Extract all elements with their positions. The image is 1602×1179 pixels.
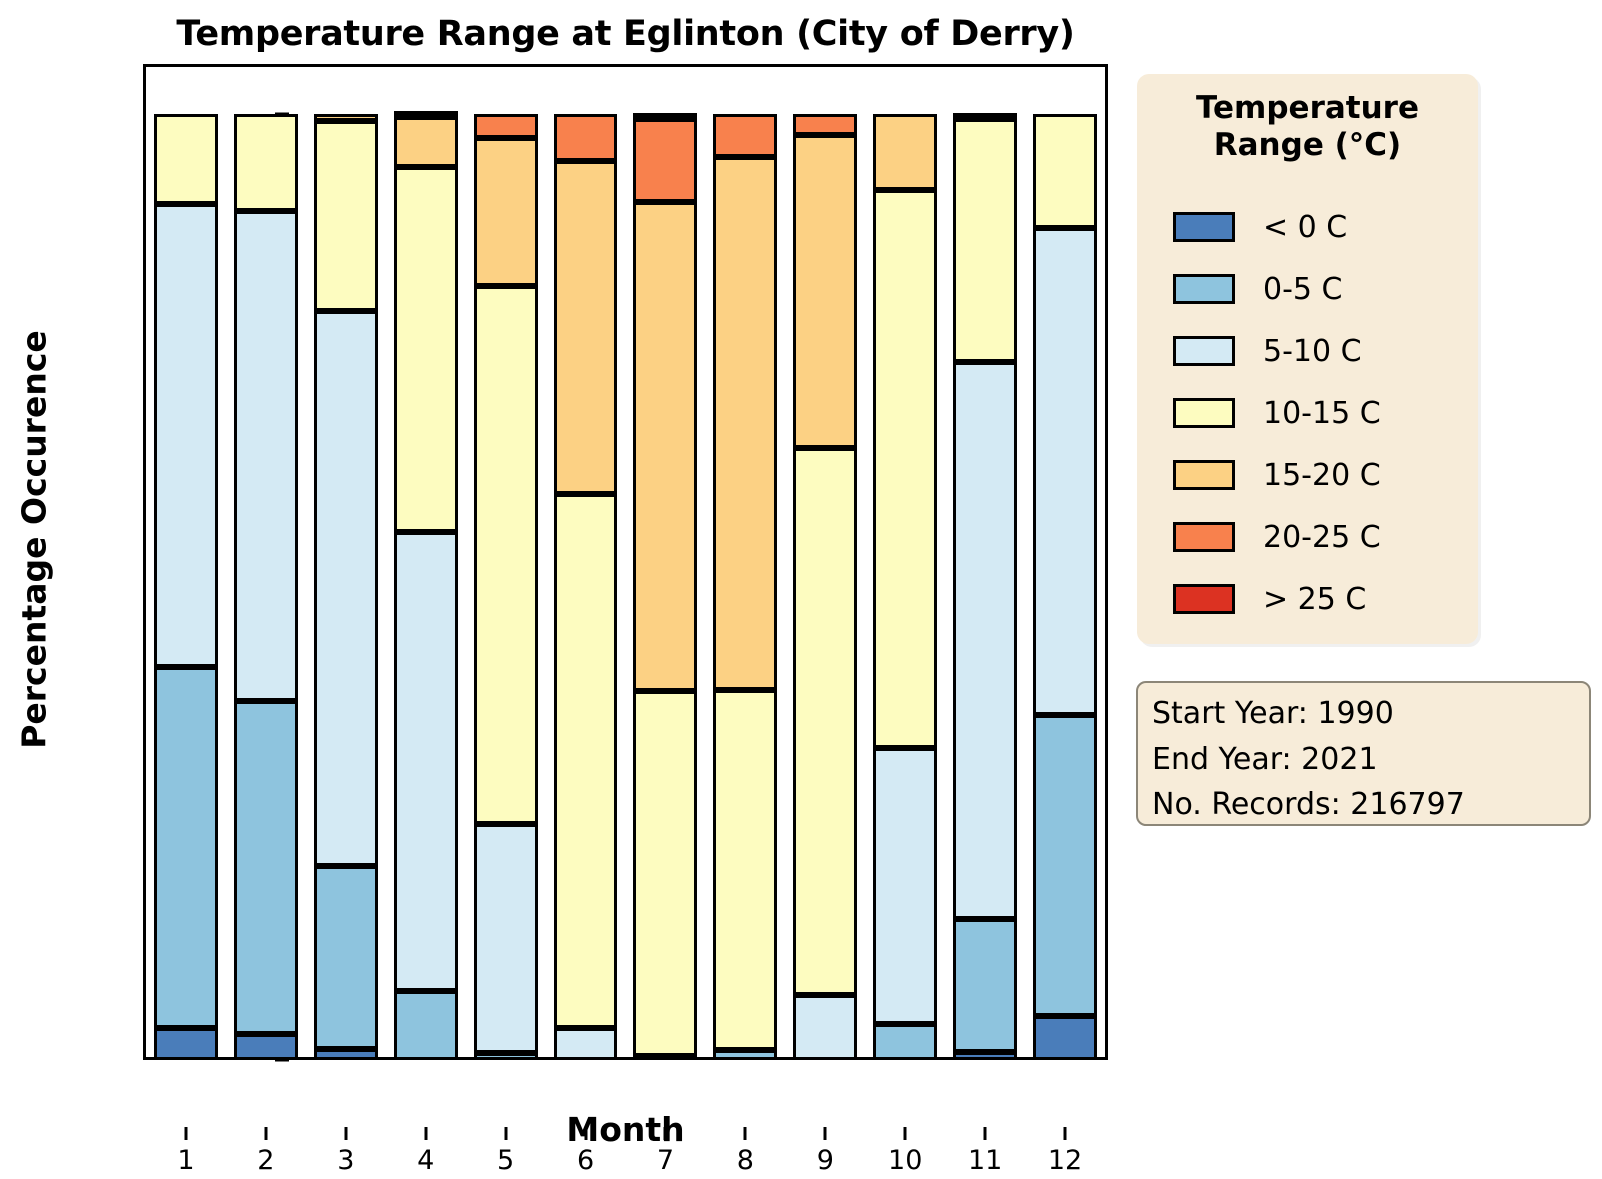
legend-items: < 0 C0-5 C5-10 C10-15 C15-20 C20-25 C> 2… <box>1137 196 1478 630</box>
bar-segment[interactable] <box>314 114 378 121</box>
y-axis-label: Percentage Occurence <box>15 260 54 820</box>
stacked-bar[interactable] <box>474 114 538 1060</box>
bar-segment[interactable] <box>953 362 1017 919</box>
x-axis-tick-mark <box>1064 1127 1067 1140</box>
legend-item[interactable]: 0-5 C <box>1137 258 1478 320</box>
legend-item-label: 15-20 C <box>1263 458 1381 493</box>
legend-swatch-icon <box>1173 336 1235 366</box>
stacked-bar[interactable] <box>953 114 1017 1060</box>
bar-segment[interactable] <box>394 532 458 991</box>
legend-title: Temperature Range (°C) <box>1137 90 1478 163</box>
legend: Temperature Range (°C) < 0 C0-5 C5-10 C1… <box>1137 74 1478 644</box>
bar-segment[interactable] <box>554 1028 618 1060</box>
bar-segment[interactable] <box>953 919 1017 1052</box>
bar-segment[interactable] <box>1033 1016 1097 1060</box>
legend-swatch-icon <box>1173 584 1235 614</box>
legend-item-label: 10-15 C <box>1263 396 1381 431</box>
x-axis-tick-mark <box>184 1127 187 1140</box>
stacked-bar[interactable] <box>314 114 378 1060</box>
bar-segment[interactable] <box>953 1052 1017 1060</box>
bar-segment[interactable] <box>314 121 378 311</box>
x-axis-tick-mark <box>984 1127 987 1140</box>
bar-segment[interactable] <box>873 1024 937 1060</box>
bar-segment[interactable] <box>793 448 857 995</box>
bar-segment[interactable] <box>713 157 777 691</box>
bar-segment[interactable] <box>234 114 298 210</box>
stacked-bar[interactable] <box>793 114 857 1060</box>
plot-area: 020406080100123456789101112 <box>146 67 1105 1057</box>
bar-segment[interactable] <box>713 1050 777 1060</box>
bar-segment[interactable] <box>713 690 777 1049</box>
legend-item[interactable]: > 25 C <box>1137 568 1478 630</box>
stacked-bar[interactable] <box>154 114 218 1060</box>
x-axis-tick-mark <box>344 1127 347 1140</box>
bar-segment[interactable] <box>394 991 458 1060</box>
x-axis-tick-label: 10 <box>888 1145 922 1176</box>
x-axis-tick-label: 9 <box>817 1145 834 1176</box>
bar-segment[interactable] <box>394 117 458 167</box>
x-axis-tick-mark <box>264 1127 267 1140</box>
legend-item-label: > 25 C <box>1263 582 1366 617</box>
legend-swatch-icon <box>1173 460 1235 490</box>
x-axis-tick-label: 1 <box>177 1145 194 1176</box>
start-year-text: Start Year: 1990 <box>1152 691 1575 737</box>
x-axis-tick-label: 7 <box>657 1145 674 1176</box>
bar-segment[interactable] <box>394 167 458 532</box>
legend-item[interactable]: < 0 C <box>1137 196 1478 258</box>
bar-segment[interactable] <box>633 113 697 119</box>
stacked-bar[interactable] <box>873 114 937 1060</box>
x-axis-tick-label: 8 <box>737 1145 754 1176</box>
bar-segment[interactable] <box>474 824 538 1054</box>
bar-segment[interactable] <box>234 1034 298 1060</box>
x-axis-tick-label: 4 <box>417 1145 434 1176</box>
chart-page: Temperature Range at Eglinton (City of D… <box>0 0 1602 1179</box>
bar-segment[interactable] <box>554 114 618 161</box>
records-text: No. Records: 216797 <box>1152 782 1575 828</box>
bar-segment[interactable] <box>234 701 298 1034</box>
bar-segment[interactable] <box>154 204 218 668</box>
legend-item-label: 5-10 C <box>1263 334 1362 369</box>
bar-segment[interactable] <box>314 1049 378 1060</box>
legend-item-label: 20-25 C <box>1263 520 1381 555</box>
bar-segment[interactable] <box>154 1028 218 1060</box>
x-axis-tick-mark <box>664 1127 667 1140</box>
x-axis-tick-label: 11 <box>968 1145 1002 1176</box>
bar-segment[interactable] <box>793 995 857 1060</box>
bar-segment[interactable] <box>633 202 697 691</box>
stacked-bar[interactable] <box>234 114 298 1060</box>
x-axis-tick-mark <box>504 1127 507 1140</box>
bar-segment[interactable] <box>1033 715 1097 1016</box>
legend-swatch-icon <box>1173 398 1235 428</box>
x-axis-tick-mark <box>904 1127 907 1140</box>
legend-swatch-icon <box>1173 522 1235 552</box>
bar-segment[interactable] <box>1033 228 1097 715</box>
legend-swatch-icon <box>1173 274 1235 304</box>
end-year-text: End Year: 2021 <box>1152 737 1575 783</box>
x-axis-tick-mark <box>584 1127 587 1140</box>
bar-segment[interactable] <box>1033 114 1097 228</box>
bar-segment[interactable] <box>474 138 538 287</box>
bar-segment[interactable] <box>154 667 218 1027</box>
stacked-bar[interactable] <box>394 114 458 1060</box>
bar-segment[interactable] <box>873 748 937 1024</box>
legend-item[interactable]: 10-15 C <box>1137 382 1478 444</box>
bar-segment[interactable] <box>154 114 218 204</box>
bar-segment[interactable] <box>793 114 857 135</box>
bar-segment[interactable] <box>554 494 618 1028</box>
page-title: Temperature Range at Eglinton (City of D… <box>143 14 1108 54</box>
x-axis-tick-label: 2 <box>257 1145 274 1176</box>
bar-segment[interactable] <box>394 111 458 117</box>
legend-item[interactable]: 20-25 C <box>1137 506 1478 568</box>
x-axis-label: Month <box>143 1110 1108 1149</box>
bar-segment[interactable] <box>873 190 937 748</box>
x-axis-tick-label: 12 <box>1048 1145 1082 1176</box>
bar-segment[interactable] <box>873 114 937 190</box>
bar-segment[interactable] <box>713 114 777 157</box>
bar-segment[interactable] <box>474 114 538 138</box>
bar-segment[interactable] <box>474 286 538 823</box>
stacked-bar[interactable] <box>1033 114 1097 1060</box>
bar-segment[interactable] <box>314 311 378 866</box>
x-axis-tick-mark <box>424 1127 427 1140</box>
x-axis-tick-label: 6 <box>577 1145 594 1176</box>
legend-item-label: 0-5 C <box>1263 272 1342 307</box>
legend-item[interactable]: 15-20 C <box>1137 444 1478 506</box>
stacked-bar[interactable] <box>633 114 697 1060</box>
stacked-bar[interactable] <box>554 114 618 1060</box>
x-axis-tick-label: 5 <box>497 1145 514 1176</box>
stacked-bar[interactable] <box>713 114 777 1060</box>
bar-segment[interactable] <box>633 691 697 1056</box>
x-axis-tick-mark <box>824 1127 827 1140</box>
info-box: Start Year: 1990 End Year: 2021 No. Reco… <box>1136 681 1591 826</box>
legend-item-label: < 0 C <box>1263 210 1347 245</box>
bar-segment[interactable] <box>474 1053 538 1060</box>
bar-segment[interactable] <box>314 866 378 1049</box>
bar-segment[interactable] <box>953 113 1017 119</box>
bar-segment[interactable] <box>554 161 618 494</box>
x-axis-tick-mark <box>744 1127 747 1140</box>
legend-item[interactable]: 5-10 C <box>1137 320 1478 382</box>
bar-segment[interactable] <box>633 119 697 202</box>
legend-swatch-icon <box>1173 212 1235 242</box>
bar-segment[interactable] <box>234 211 298 702</box>
bar-segment[interactable] <box>953 119 1017 362</box>
bar-segment[interactable] <box>793 135 857 448</box>
x-axis-tick-label: 3 <box>337 1145 354 1176</box>
